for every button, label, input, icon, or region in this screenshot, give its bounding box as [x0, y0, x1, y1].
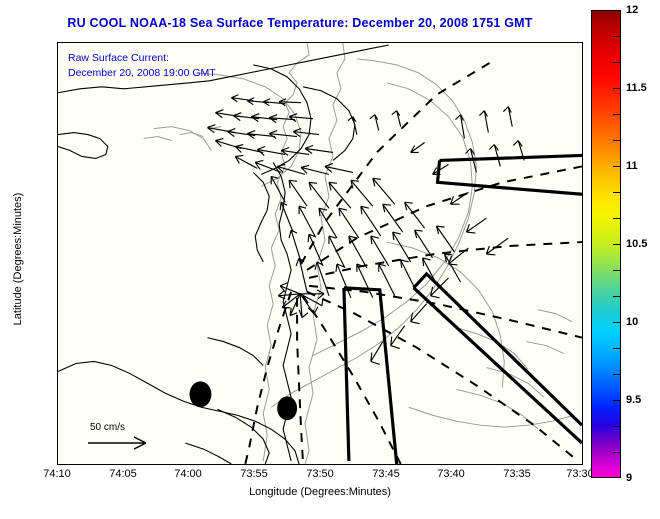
coastline [58, 45, 389, 464]
cbtick-0: 12 [626, 4, 638, 16]
cbtick-3: 10.5 [626, 238, 647, 250]
figure-title: RU COOL NOAA-18 Sea Surface Temperature:… [0, 16, 600, 30]
sst-map-figure: RU COOL NOAA-18 Sea Surface Temperature:… [0, 0, 660, 519]
xtick-6: 73:40 [437, 468, 465, 480]
cbtick-5: 9.5 [626, 394, 641, 406]
arrow-right-icon [38, 433, 158, 451]
xtick-4: 73:50 [306, 468, 334, 480]
x-axis-label: Longitude (Degrees:Minutes) [57, 486, 583, 498]
y-axis-label: Latitude (Degrees:Minutes) [12, 149, 24, 369]
map-plot-area[interactable]: Raw Surface Current: December 20, 2008 1… [57, 42, 583, 465]
station-marker[interactable] [277, 396, 297, 420]
station-markers[interactable] [189, 381, 297, 420]
current-annotation: Raw Surface Current: December 20, 2008 1… [68, 51, 216, 81]
cbtick-2: 11 [626, 160, 638, 172]
xtick-3: 73:55 [240, 468, 268, 480]
scale-legend-label: 50 cm/s [38, 422, 158, 433]
vector-scale-legend: 50 cm/s [38, 422, 158, 456]
cbtick-1: 11.5 [626, 82, 647, 94]
cbtick-4: 10 [626, 316, 638, 328]
xtick-7: 73:35 [503, 468, 531, 480]
annotation-line-1: Raw Surface Current: [68, 51, 216, 66]
xtick-8: 73:30 [566, 468, 594, 480]
xtick-0: 74:10 [43, 468, 71, 480]
station-marker[interactable] [189, 381, 211, 407]
map-canvas [58, 43, 582, 464]
annotation-line-2: December 20, 2008 19:00 GMT [68, 66, 216, 81]
cbtick-6: 9 [626, 472, 632, 484]
xtick-1: 74:05 [109, 468, 137, 480]
xtick-2: 74:00 [174, 468, 202, 480]
xtick-5: 73:45 [372, 468, 400, 480]
